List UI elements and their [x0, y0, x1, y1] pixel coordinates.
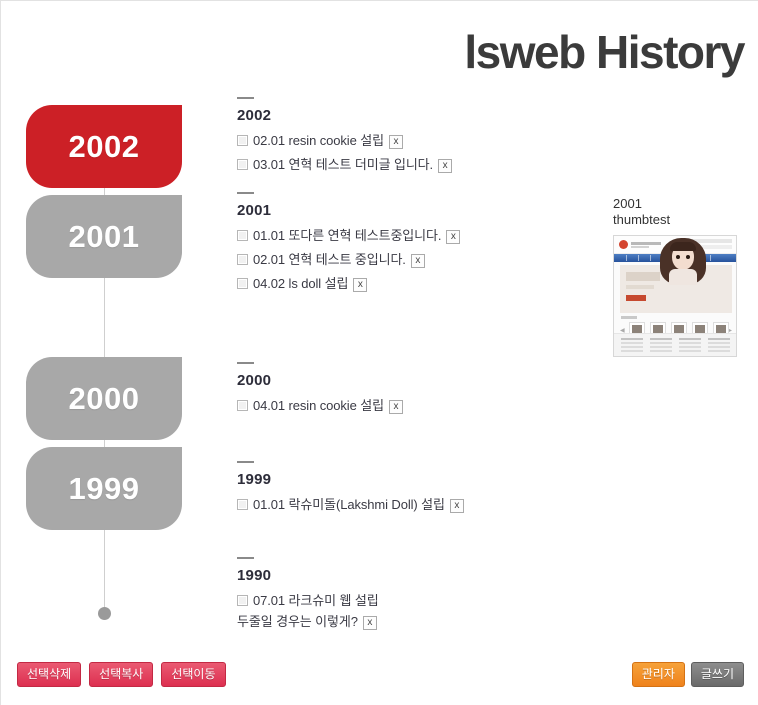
delete-selected-button[interactable]: 선택삭제 [17, 662, 81, 687]
history-item: 03.01 연혁 테스트 더미글 입니다.x [237, 154, 597, 175]
delete-item-button[interactable]: x [389, 400, 403, 414]
write-post-button[interactable]: 글쓰기 [691, 662, 744, 687]
history-group-2002: 2002 02.01 resin cookie 설립x 03.01 연혁 테스트… [237, 97, 597, 175]
year-tab-label: 2001 [69, 219, 140, 255]
history-group-2001: 2001 01.01 또다른 연혁 테스트중입니다.x 02.01 연혁 테스트… [237, 192, 597, 294]
group-dash-icon [237, 557, 254, 559]
history-item: 04.01 resin cookie 설립x [237, 395, 597, 416]
page-title: lsweb History [464, 29, 744, 75]
delete-item-button[interactable]: x [411, 254, 425, 268]
thumbnail-site-footer [614, 333, 736, 356]
item-text: 03.01 연혁 테스트 더미글 입니다. [253, 157, 433, 172]
history-item: 07.01 라크슈미 웹 설립 두줄일 경우는 이렇게?x [237, 590, 597, 632]
year-tab-2002[interactable]: 2002 [26, 105, 182, 188]
item-checkbox[interactable] [237, 135, 248, 146]
history-group-1990: 1990 07.01 라크슈미 웹 설립 두줄일 경우는 이렇게?x [237, 557, 597, 632]
item-checkbox[interactable] [237, 595, 248, 606]
history-item: 01.01 락슈미돌(Lakshmi Doll) 설립x [237, 494, 597, 515]
delete-item-button[interactable]: x [450, 499, 464, 513]
group-year-label: 1999 [237, 471, 597, 488]
thumbnail-footer-column [621, 338, 643, 354]
thumbnail-doll-eye-left [676, 255, 680, 259]
thumbnail-image[interactable]: ◀ ▶ [613, 235, 737, 357]
group-dash-icon [237, 192, 254, 194]
item-checkbox[interactable] [237, 499, 248, 510]
delete-item-button[interactable]: x [353, 278, 367, 292]
history-list: 2002 02.01 resin cookie 설립x 03.01 연혁 테스트… [237, 97, 597, 635]
item-checkbox[interactable] [237, 278, 248, 289]
history-group-1999: 1999 01.01 락슈미돌(Lakshmi Doll) 설립x [237, 461, 597, 515]
item-checkbox[interactable] [237, 400, 248, 411]
thumbnail-logo-icon [619, 240, 628, 249]
year-tab-label: 1999 [69, 471, 140, 507]
item-text: 02.01 연혁 테스트 중입니다. [253, 252, 406, 267]
group-dash-icon [237, 362, 254, 364]
thumbnail-hero-button [626, 295, 646, 301]
item-checkbox[interactable] [237, 230, 248, 241]
thumbnail-section-label [621, 316, 637, 319]
item-text: 01.01 락슈미돌(Lakshmi Doll) 설립 [253, 497, 445, 512]
history-group-2000: 2000 04.01 resin cookie 설립x [237, 362, 597, 416]
year-tab-2001[interactable]: 2001 [26, 195, 182, 278]
thumbnail-title-label: thumbtest [613, 212, 737, 228]
thumbnail-logo-subtext [631, 246, 649, 248]
thumbnail-footer-column [650, 338, 672, 354]
history-page: lsweb History 2002 2001 2000 1999 2002 0… [0, 0, 758, 705]
group-dash-icon [237, 461, 254, 463]
item-text: 01.01 또다른 연혁 테스트중입니다. [253, 228, 441, 243]
history-item: 04.02 ls doll 설립x [237, 273, 597, 294]
delete-item-button[interactable]: x [438, 159, 452, 173]
delete-item-button[interactable]: x [363, 616, 377, 630]
item-text: 04.01 resin cookie 설립 [253, 398, 384, 413]
group-dash-icon [237, 97, 254, 99]
thumbnail-year-label: 2001 [613, 196, 737, 212]
item-checkbox[interactable] [237, 254, 248, 265]
group-year-label: 2001 [237, 202, 597, 219]
year-tab-1999[interactable]: 1999 [26, 447, 182, 530]
thumbnail-logo-text [631, 242, 661, 245]
group-year-label: 2000 [237, 372, 597, 389]
timeline-end-dot [98, 607, 111, 620]
thumbnail-doll-eye-right [686, 255, 690, 259]
history-item: 01.01 또다른 연혁 테스트중입니다.x [237, 225, 597, 246]
history-item: 02.01 resin cookie 설립x [237, 130, 597, 151]
year-tab-label: 2002 [69, 129, 140, 165]
item-checkbox[interactable] [237, 159, 248, 170]
group-year-label: 2002 [237, 107, 597, 124]
group-year-label: 1990 [237, 567, 597, 584]
history-item: 02.01 연혁 테스트 중입니다.x [237, 249, 597, 270]
item-text: 04.02 ls doll 설립 [253, 276, 348, 291]
thumbnail-footer-column [679, 338, 701, 354]
admin-button[interactable]: 관리자 [632, 662, 685, 687]
item-text-line2: 두줄일 경우는 이렇게? [237, 614, 358, 629]
thumbnail-hero-heading [626, 272, 660, 281]
history-item-second-line: 두줄일 경우는 이렇게?x [237, 611, 597, 632]
copy-selected-button[interactable]: 선택복사 [89, 662, 153, 687]
thumbnail-hero-subheading [626, 285, 654, 289]
delete-item-button[interactable]: x [389, 135, 403, 149]
item-text: 07.01 라크슈미 웹 설립 [253, 593, 379, 608]
thumbnail-doll-body [669, 269, 697, 285]
year-tab-list: 2002 2001 2000 1999 [26, 105, 182, 537]
page-action-buttons: 관리자 글쓰기 [632, 662, 744, 687]
move-selected-button[interactable]: 선택이동 [161, 662, 225, 687]
bulk-action-buttons: 선택삭제 선택복사 선택이동 [17, 662, 226, 687]
delete-item-button[interactable]: x [446, 230, 460, 244]
item-text: 02.01 resin cookie 설립 [253, 133, 384, 148]
year-tab-2000[interactable]: 2000 [26, 357, 182, 440]
thumbnail-panel: 2001 thumbtest [613, 196, 737, 357]
year-tab-label: 2000 [69, 381, 140, 417]
thumbnail-footer-column [708, 338, 730, 354]
thumbnail-doll-bangs [670, 242, 696, 251]
